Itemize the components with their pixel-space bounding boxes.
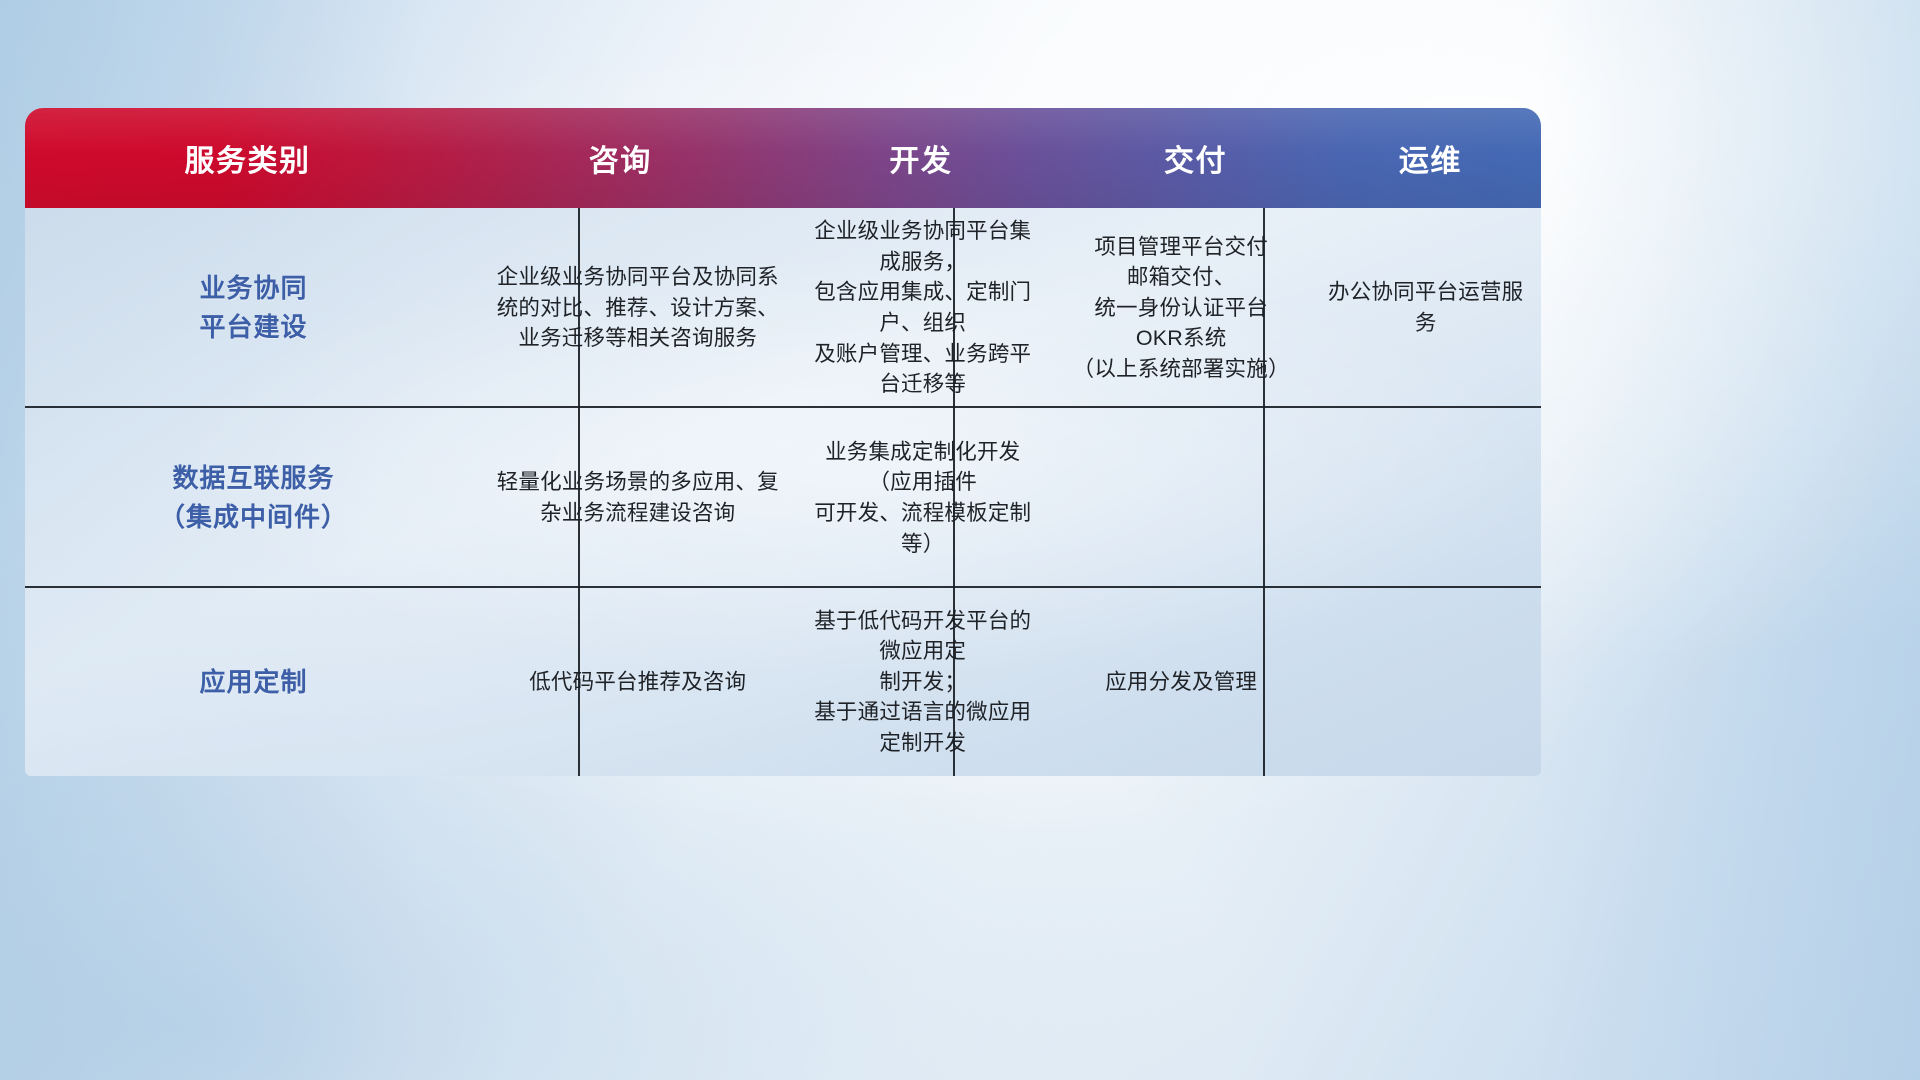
column-header-operations: 运维: [1320, 136, 1541, 180]
row-1-operations-text: 办公协同平台运营服务: [1324, 277, 1527, 338]
table-body: 业务协同 平台建设 企业级业务协同平台及协同系 统的对比、推荐、设计方案、 业务…: [25, 208, 1541, 776]
table-row: 应用定制 低代码平台推荐及咨询 基于低代码开发平台的微应用定 制开发； 基于通过…: [25, 588, 1541, 776]
row-3-development-text: 基于低代码开发平台的微应用定 制开发； 基于通过语言的微应用定制开发: [808, 606, 1038, 759]
row-2-consulting-cell: 轻量化业务场景的多应用、复 杂业务流程建设咨询: [482, 408, 794, 588]
service-category-table: 服务类别 咨询 开发 交付 运维 业务协同 平台建设 企业级业务协同平台及协同系…: [25, 108, 1541, 776]
row-1-delivery-cell: 项目管理平台交付 邮箱交付、 统一身份认证平台 OKR系统 （以上系统部署实施）: [1052, 208, 1310, 408]
row-3-consulting-text: 低代码平台推荐及咨询: [529, 667, 746, 698]
row-3-category-text: 应用定制: [199, 663, 307, 702]
row-1-delivery-text: 项目管理平台交付 邮箱交付、 统一身份认证平台 OKR系统 （以上系统部署实施）: [1073, 232, 1290, 385]
column-header-category: 服务类别: [25, 136, 470, 180]
row-2-development-text: 业务集成定制化开发（应用插件 可开发、流程模板定制等）: [808, 437, 1038, 559]
column-header-consulting: 咨询: [470, 136, 771, 180]
row-3-delivery-text: 应用分发及管理: [1105, 667, 1257, 698]
row-divider-1: [25, 406, 1541, 408]
table-row: 业务协同 平台建设 企业级业务协同平台及协同系 统的对比、推荐、设计方案、 业务…: [25, 208, 1541, 408]
row-2-consulting-text: 轻量化业务场景的多应用、复 杂业务流程建设咨询: [497, 467, 779, 528]
table-row: 数据互联服务 （集成中间件） 轻量化业务场景的多应用、复 杂业务流程建设咨询 业…: [25, 408, 1541, 588]
row-1-development-text: 企业级业务协同平台集成服务， 包含应用集成、定制门户、组织 及账户管理、业务跨平…: [808, 216, 1038, 399]
row-1-consulting-text: 企业级业务协同平台及协同系 统的对比、推荐、设计方案、 业务迁移等相关咨询服务: [497, 262, 779, 354]
table-header-row: 服务类别 咨询 开发 交付 运维: [25, 108, 1541, 208]
row-3-consulting-cell: 低代码平台推荐及咨询: [482, 588, 794, 776]
row-3-category-cell: 应用定制: [25, 588, 482, 776]
row-2-operations-cell: [1310, 408, 1541, 588]
row-1-category-text: 业务协同 平台建设: [199, 269, 307, 347]
row-2-category-text: 数据互联服务 （集成中间件）: [159, 459, 348, 537]
row-1-category-cell: 业务协同 平台建设: [25, 208, 482, 408]
row-3-operations-cell: [1310, 588, 1541, 776]
column-divider-delivery-operations: [1263, 208, 1265, 776]
column-header-development: 开发: [771, 136, 1072, 180]
column-divider-consulting-development: [578, 208, 580, 776]
row-3-development-cell: 基于低代码开发平台的微应用定 制开发； 基于通过语言的微应用定制开发: [794, 588, 1052, 776]
column-divider-development-delivery: [953, 208, 955, 776]
row-2-category-cell: 数据互联服务 （集成中间件）: [25, 408, 482, 588]
row-divider-2: [25, 586, 1541, 588]
row-1-consulting-cell: 企业级业务协同平台及协同系 统的对比、推荐、设计方案、 业务迁移等相关咨询服务: [482, 208, 794, 408]
row-3-delivery-cell: 应用分发及管理: [1052, 588, 1310, 776]
row-1-development-cell: 企业级业务协同平台集成服务， 包含应用集成、定制门户、组织 及账户管理、业务跨平…: [794, 208, 1052, 408]
row-1-operations-cell: 办公协同平台运营服务: [1310, 208, 1541, 408]
column-header-delivery: 交付: [1071, 136, 1320, 180]
row-2-development-cell: 业务集成定制化开发（应用插件 可开发、流程模板定制等）: [794, 408, 1052, 588]
row-2-delivery-cell: [1052, 408, 1310, 588]
